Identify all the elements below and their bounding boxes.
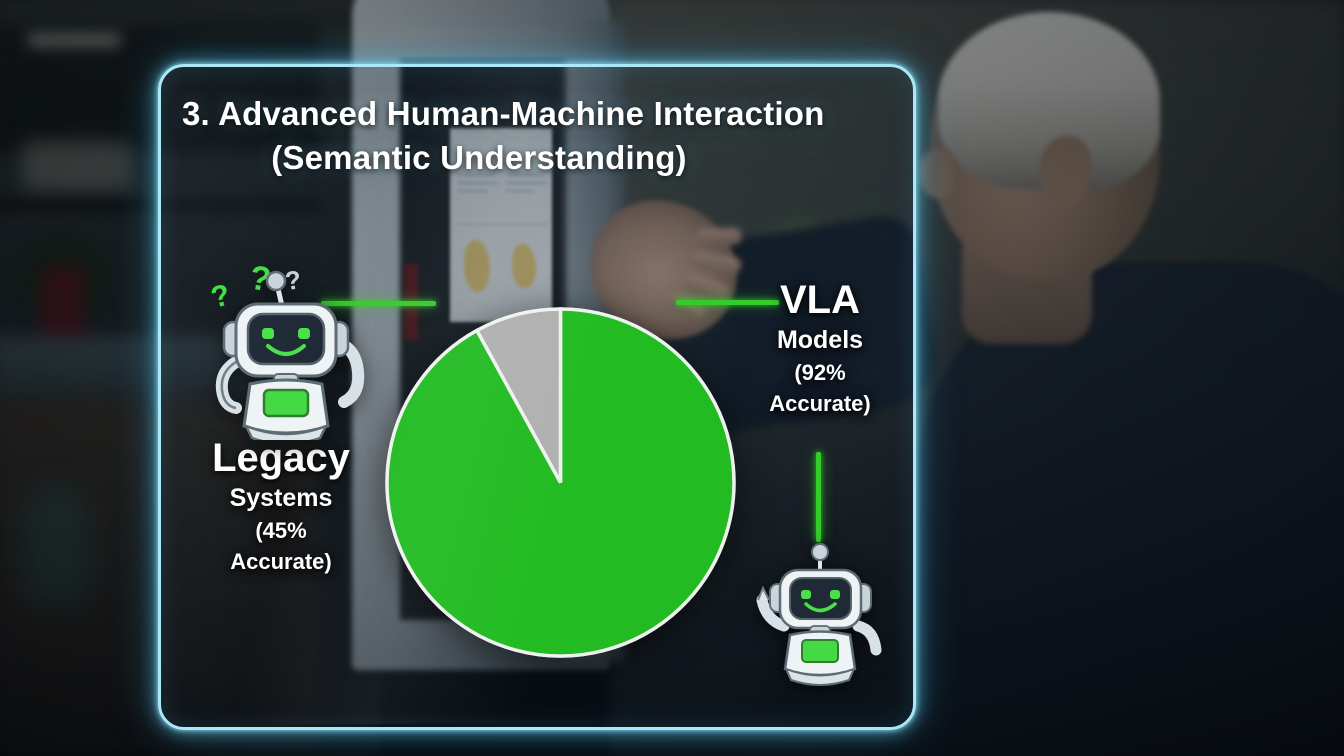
background-shelf-object	[22, 140, 132, 190]
legacy-label-title: Legacy	[176, 434, 386, 482]
pie-chart[interactable]	[384, 306, 737, 659]
background-red-object	[42, 268, 84, 342]
person-nose	[918, 150, 954, 198]
legacy-label: Legacy Systems (45% Accurate)	[176, 434, 386, 577]
page-title-line1: 3. Advanced Human-Machine Interaction	[182, 92, 888, 136]
legacy-label-line2: Systems	[176, 482, 386, 515]
vla-label-line3: (92%	[736, 357, 904, 388]
happy-robot-icon	[746, 540, 894, 688]
vla-label: VLA Models (92% Accurate)	[736, 276, 904, 419]
legacy-label-line3: (45%	[176, 515, 386, 546]
leader-line-vertical	[816, 452, 821, 542]
background-shelf-light	[28, 34, 120, 46]
background-shelf-edge	[0, 200, 320, 210]
page-title: 3. Advanced Human-Machine Interaction (S…	[182, 92, 888, 180]
background-teal-light	[22, 486, 92, 606]
legacy-label-line4: Accurate)	[176, 546, 386, 577]
svg-text:?: ?	[208, 278, 234, 314]
vla-label-line2: Models	[736, 324, 904, 357]
vla-label-line4: Accurate)	[736, 388, 904, 419]
page-title-line2: (Semantic Understanding)	[182, 136, 888, 180]
screenshot-stage: 3. Advanced Human-Machine Interaction (S…	[0, 0, 1344, 756]
confused-robot-icon: ? ? ?	[198, 250, 374, 440]
pie-chart-svg	[384, 306, 737, 659]
svg-text:?: ?	[283, 264, 302, 295]
vla-label-title: VLA	[736, 276, 904, 324]
